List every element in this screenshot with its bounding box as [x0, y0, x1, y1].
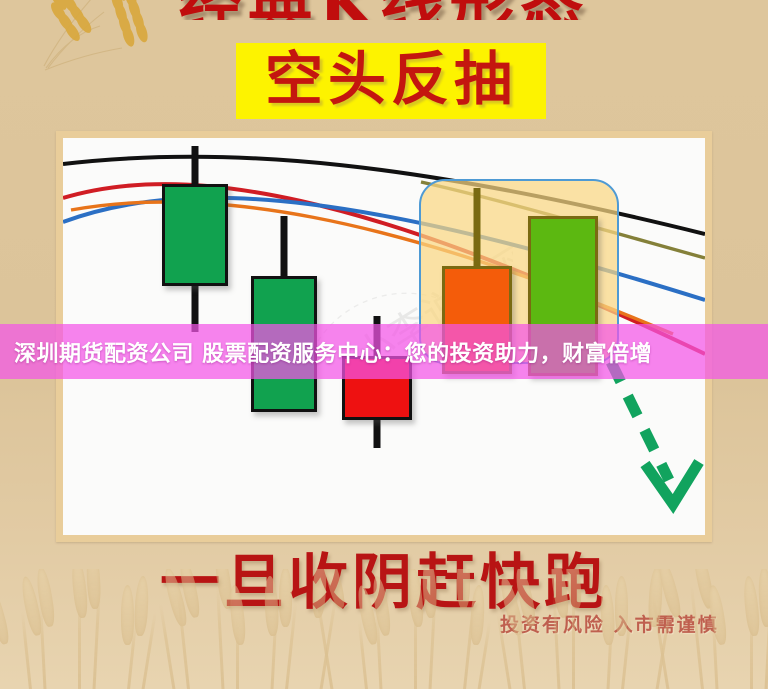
risk-disclaimer: 投资有风险 入市需谨慎	[500, 610, 720, 642]
candle-1	[162, 146, 228, 332]
poster-root: 经典K线形态 空头反抽 小李说股网	[0, 0, 768, 689]
candle-2	[251, 216, 317, 412]
bottom-slogan: 一旦收阴赶快跑	[0, 534, 768, 606]
poster-headline: 经典K线形态	[0, 0, 768, 20]
candle-1-body	[162, 184, 228, 286]
down-arrow-icon	[603, 358, 705, 518]
subtitle-banner: 空头反抽	[236, 43, 546, 119]
promo-banner-text: 深圳期货配资公司 股票配资服务中心：您的投资助力，财富倍增	[14, 336, 652, 368]
promo-banner[interactable]: 深圳期货配资公司 股票配资服务中心：您的投资助力，财富倍增	[0, 324, 768, 379]
subtitle-banner-label: 空头反抽	[265, 50, 517, 108]
